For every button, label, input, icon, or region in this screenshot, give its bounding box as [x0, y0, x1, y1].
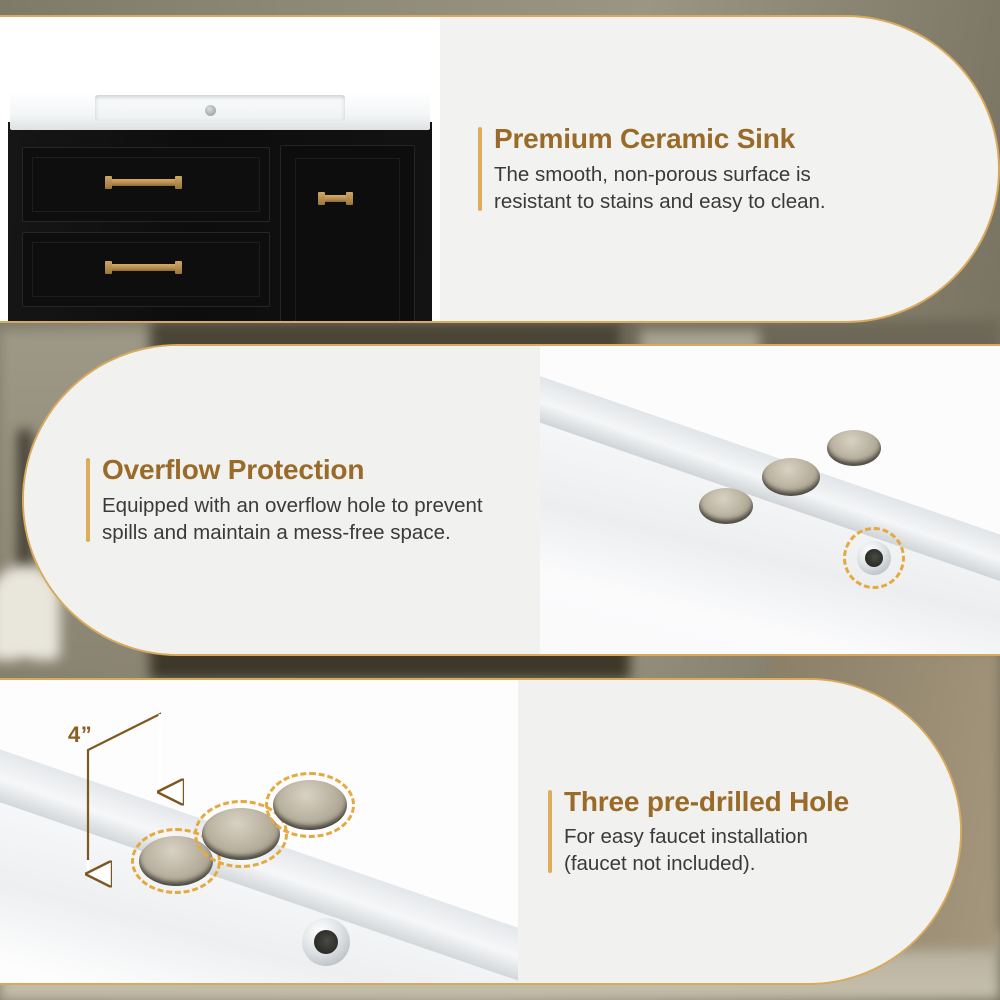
overflow-hole-photo: [540, 346, 1000, 654]
handle-cap-right: [346, 192, 353, 205]
drawer-handle-bottom: [108, 264, 180, 271]
accent-bar: [548, 790, 552, 873]
description-line: The smooth, non-porous surface is: [494, 161, 826, 188]
door-panel-inset: [295, 158, 400, 321]
accent-bar: [86, 458, 90, 541]
accent-bar: [478, 127, 482, 210]
panel3-text-area: Three pre-drilled Hole For easy faucet i…: [518, 680, 960, 983]
panel2-title: Overflow Protection: [102, 454, 483, 486]
description-line: (faucet not included).: [564, 850, 849, 877]
panel2-description: Equipped with an overflow hole to preven…: [102, 492, 483, 546]
feature-panel-premium-ceramic-sink: Premium Ceramic Sink The smooth, non-por…: [0, 15, 1000, 323]
panel1-description: The smooth, non-porous surface is resist…: [494, 161, 826, 215]
description-line: resistant to stains and easy to clean.: [494, 188, 826, 215]
measurement-bracket-icon: [0, 680, 518, 983]
feature-text-block: Three pre-drilled Hole For easy faucet i…: [548, 786, 849, 877]
panel3-description: For easy faucet installation (faucet not…: [564, 823, 849, 877]
sink-basin: [95, 95, 345, 121]
handle-cap-left: [105, 261, 112, 274]
vanity-product-photo: [0, 17, 440, 321]
handle-cap-left: [105, 176, 112, 189]
panel1-text-area: Premium Ceramic Sink The smooth, non-por…: [440, 17, 998, 321]
handle-cap-right: [175, 261, 182, 274]
panel1-title: Premium Ceramic Sink: [494, 123, 826, 155]
overflow-hole-highlight-icon: [843, 527, 905, 589]
feature-panel-three-pre-drilled-hole: 4” Three pre-drilled Hole For easy fauce…: [0, 678, 962, 985]
feature-text-block: Overflow Protection Equipped with an ove…: [86, 454, 483, 545]
faucet-hole-right: [827, 430, 881, 466]
description-line: Equipped with an overflow hole to preven…: [102, 492, 483, 519]
panel3-title: Three pre-drilled Hole: [564, 786, 849, 818]
handle-cap-left: [318, 192, 325, 205]
description-line: spills and maintain a mess-free space.: [102, 519, 483, 546]
panel2-text-area: Overflow Protection Equipped with an ove…: [24, 346, 540, 654]
drain-icon: [205, 105, 216, 116]
feature-text-block: Premium Ceramic Sink The smooth, non-por…: [478, 123, 826, 214]
pre-drilled-holes-photo: 4”: [0, 680, 518, 983]
handle-cap-right: [175, 176, 182, 189]
drawer-handle-top: [108, 179, 180, 186]
faucet-hole-center: [762, 458, 820, 496]
description-line: For easy faucet installation: [564, 823, 849, 850]
faucet-hole-left: [699, 488, 753, 524]
feature-panel-overflow-protection: Overflow Protection Equipped with an ove…: [22, 344, 1000, 656]
vanity-cabinet-door: [280, 145, 415, 321]
